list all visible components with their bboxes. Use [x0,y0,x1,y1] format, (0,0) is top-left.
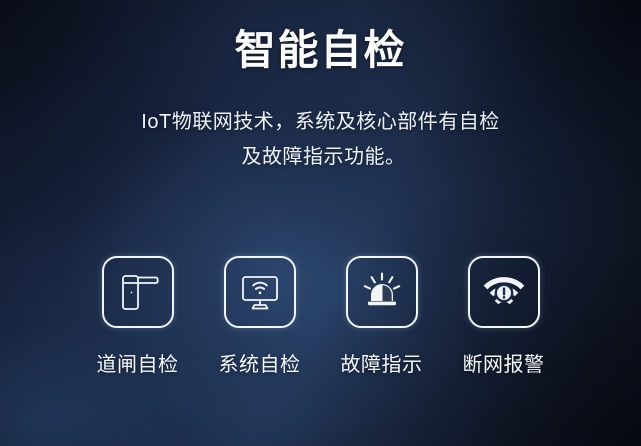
monitor-wifi-icon [236,268,284,316]
feature-item-system-check[interactable]: 系统自检 [199,256,321,377]
feature-label: 断网报警 [463,348,545,377]
barrier-gate-icon [114,268,162,316]
page-title: 智能自检 [0,30,641,71]
feature-item-network-alarm[interactable]: 断网报警 [443,256,565,377]
page-subtitle-line-2: 及故障指示功能。 [91,140,551,175]
feature-item-barrier-gate[interactable]: 道闸自检 [77,256,199,377]
feature-icon-box[interactable] [224,256,296,328]
wifi-alert-icon [480,268,528,316]
feature-label: 故障指示 [341,348,423,377]
feature-list: 道闸自检 [0,256,641,377]
feature-label: 系统自检 [219,348,301,377]
alarm-beacon-icon [358,268,406,316]
feature-icon-box[interactable] [468,256,540,328]
feature-item-fault-indicator[interactable]: 故障指示 [321,256,443,377]
feature-label: 道闸自检 [97,348,179,377]
feature-icon-box[interactable] [102,256,174,328]
page-subtitle-line-1: IoT物联网技术，系统及核心部件有自检 [141,111,499,133]
page-subtitle: IoT物联网技术，系统及核心部件有自检 及故障指示功能。 [91,105,551,175]
feature-icon-box[interactable] [346,256,418,328]
slide-canvas: 智能自检 IoT物联网技术，系统及核心部件有自检 及故障指示功能。 [0,0,641,446]
